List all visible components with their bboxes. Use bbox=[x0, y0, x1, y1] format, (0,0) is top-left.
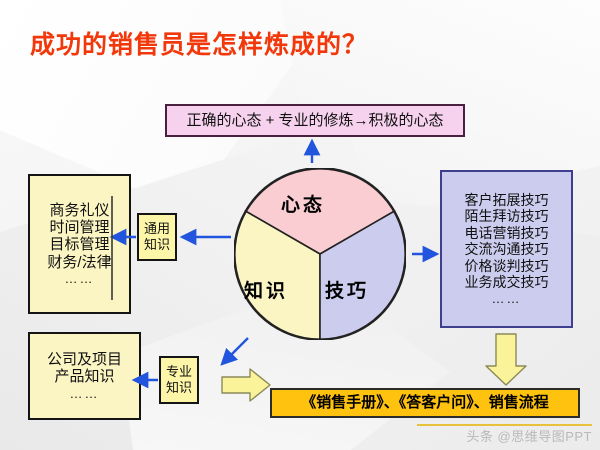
formula-text: 正确的心态 + 专业的修炼→积极的心态 bbox=[186, 112, 443, 129]
company-knowledge-box: 公司及项目 产品知识 …… bbox=[28, 332, 141, 420]
arrow-pie-to-professional-tag bbox=[222, 338, 248, 364]
list-item: 价格谈判技巧 bbox=[465, 258, 549, 275]
result-text: 《销售手册》、《答客户问》、销售流程 bbox=[301, 394, 549, 411]
pie-label-knowledge: 知识 bbox=[244, 276, 288, 303]
yellow-right-arrow bbox=[222, 369, 270, 401]
list-item: 时间管理 bbox=[49, 219, 109, 236]
watermark-text: 头条 @思维导图PPT bbox=[466, 426, 592, 445]
list-ellipsis: …… bbox=[70, 386, 100, 401]
tag-line-1: 通用 bbox=[144, 221, 170, 237]
list-item: 陌生拜访技巧 bbox=[465, 208, 549, 225]
result-box: 《销售手册》、《答客户问》、销售流程 bbox=[270, 388, 580, 418]
pie-label-mindset: 心态 bbox=[281, 190, 325, 217]
list-item: 财务/法律 bbox=[47, 254, 111, 271]
list-ellipsis: …… bbox=[65, 271, 95, 286]
list-item: 电话营销技巧 bbox=[465, 225, 549, 242]
tag-line-1: 专业 bbox=[166, 364, 192, 380]
list-item: 业务成交技巧 bbox=[465, 274, 549, 291]
list-item: 客户拓展技巧 bbox=[465, 192, 549, 209]
slide-canvas: 成功的销售员是怎样炼成的？ 正确的心态 + 专业的修炼→积极的心态 心态 知识 … bbox=[0, 0, 600, 450]
list-ellipsis: …… bbox=[492, 291, 522, 306]
general-knowledge-box: 商务礼仪 时间管理 目标管理 财务/法律 …… bbox=[28, 174, 131, 314]
slide-title: 成功的销售员是怎样炼成的？ bbox=[30, 25, 368, 61]
tag-line-2: 知识 bbox=[144, 237, 170, 253]
professional-knowledge-tag: 专业 知识 bbox=[159, 356, 199, 404]
general-knowledge-tag: 通用 知识 bbox=[137, 213, 177, 261]
list-item: 产品知识 bbox=[54, 368, 114, 385]
yellow-down-arrow bbox=[486, 334, 526, 385]
list-item: 公司及项目 bbox=[47, 351, 122, 368]
tag-line-2: 知识 bbox=[166, 380, 192, 396]
pie-label-skills: 技巧 bbox=[325, 276, 369, 303]
list-item: 目标管理 bbox=[49, 236, 109, 253]
list-item: 商务礼仪 bbox=[49, 202, 109, 219]
list-item: 交流沟通技巧 bbox=[465, 241, 549, 258]
skills-box: 客户拓展技巧 陌生拜访技巧 电话营销技巧 交流沟通技巧 价格谈判技巧 业务成交技… bbox=[440, 170, 573, 328]
formula-box: 正确的心态 + 专业的修炼→积极的心态 bbox=[165, 104, 465, 137]
